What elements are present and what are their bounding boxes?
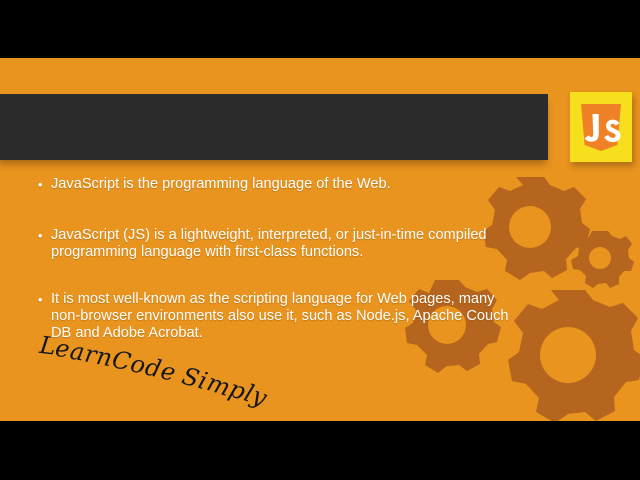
watermark-signature: LearnCode Simply [37,330,270,410]
bullet-list: JavaScript is the programming language o… [38,176,516,342]
gear-small-right [571,231,634,288]
slide-title-bar [0,94,548,160]
letterbox-bar-top [0,0,640,58]
bullet-item: It is most well-known as the scripting l… [38,291,516,342]
watermark-text: LearnCode Simply [37,330,270,410]
bullet-item: JavaScript (JS) is a lightweight, interp… [38,227,516,261]
javascript-logo: JS [570,92,632,162]
bullet-item: JavaScript is the programming language o… [38,176,516,193]
gear-bottom-right [508,290,640,421]
letterbox-bar-bottom [0,421,640,480]
presentation-slide: JS JavaScript is the programming languag… [0,58,640,421]
video-player-frame: JS JavaScript is the programming languag… [0,0,640,480]
